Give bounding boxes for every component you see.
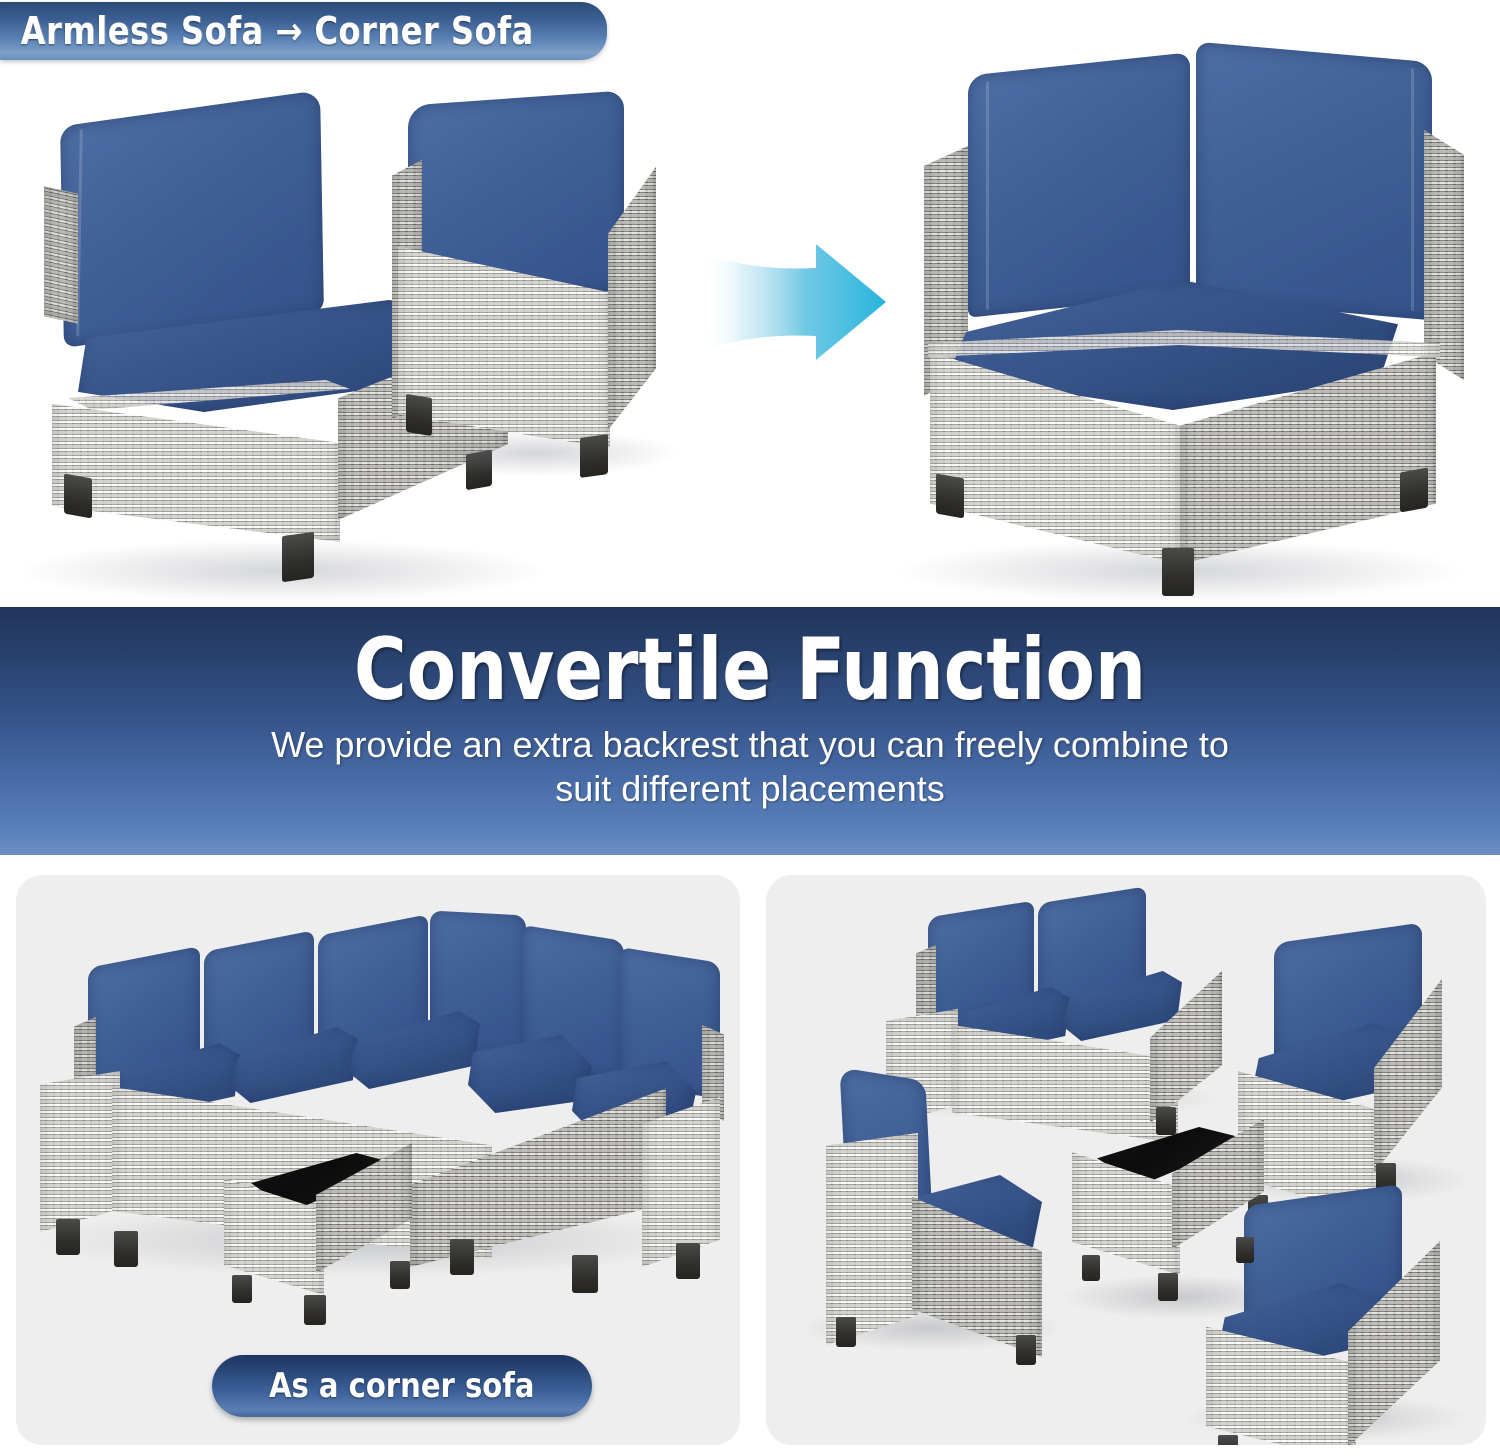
coffee-table-foot xyxy=(390,1261,410,1289)
panel-label-text: As a corner sofa xyxy=(269,1366,535,1406)
armless-chair-foot xyxy=(1218,1435,1238,1445)
armless-sofa-back-frame xyxy=(44,186,78,323)
sectional-foot xyxy=(114,1231,138,1267)
extra-backrest-foot xyxy=(406,394,432,436)
corner-sofa-back-cushion-right xyxy=(1196,42,1432,321)
corner-sofa-foot xyxy=(1162,548,1194,596)
coffee-table-shadow xyxy=(1064,1275,1294,1319)
coffee-table-foot xyxy=(1236,1237,1254,1263)
corner-sofa-foot xyxy=(1400,468,1428,513)
sectional-foot xyxy=(56,1219,80,1255)
right-arrow-icon xyxy=(700,232,890,372)
coffee-table-foot xyxy=(232,1275,252,1303)
armless-chair-foot xyxy=(1016,1335,1036,1365)
layout-panels-section: As a corner sofa xyxy=(0,855,1500,1456)
feature-banner: Convertile Function We provide an extra … xyxy=(0,607,1500,855)
armless-sofa-foot xyxy=(64,474,92,519)
loveseat-foot xyxy=(1156,1107,1176,1135)
loveseat-base-front xyxy=(952,1025,1178,1143)
sectional-foot xyxy=(676,1243,700,1279)
corner-sofa-rail-right xyxy=(1424,130,1464,380)
header-badge: Armless Sofa → Corner Sofa xyxy=(0,2,607,60)
sectional-arm-right xyxy=(642,1097,720,1267)
armless-sofa-foot xyxy=(282,532,314,582)
banner-title: Convertile Function xyxy=(53,607,1448,715)
banner-subtitle-line2: suit different placements xyxy=(80,767,1420,811)
banner-subtitle-line1: We provide an extra backrest that you ca… xyxy=(80,723,1420,767)
coffee-table-foot xyxy=(1158,1273,1178,1301)
sectional-foot xyxy=(450,1239,474,1275)
hero-section: Armless Sofa → Corner Sofa xyxy=(0,0,1500,607)
panel-corner-sofa-layout: As a corner sofa xyxy=(16,875,740,1445)
banner-subtitle: We provide an extra backrest that you ca… xyxy=(80,723,1420,811)
panel-armless-sofa-layout: As a armless sofa xyxy=(766,875,1486,1445)
extra-backrest-shadow xyxy=(396,430,676,476)
corner-sofa-back-cushion-left xyxy=(968,52,1190,317)
armless-sofa-base-front xyxy=(52,392,340,542)
extra-backrest-foot xyxy=(580,434,608,478)
armless-chair-side-left xyxy=(826,1133,918,1345)
header-badge-label: Armless Sofa → Corner Sofa xyxy=(0,9,534,53)
armless-sofa-arrangement-image xyxy=(766,875,1486,1445)
panel-label-corner-sofa: As a corner sofa xyxy=(212,1355,592,1417)
coffee-table-foot xyxy=(304,1295,326,1325)
coffee-table-foot xyxy=(1082,1255,1100,1281)
corner-sofa-foot xyxy=(936,474,964,519)
armless-chair-foot xyxy=(836,1317,856,1347)
sectional-foot xyxy=(572,1255,598,1293)
